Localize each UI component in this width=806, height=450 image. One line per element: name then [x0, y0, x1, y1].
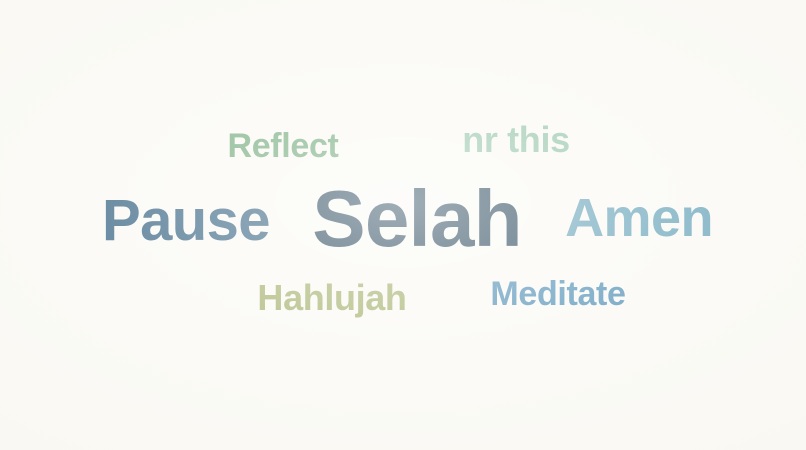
cloud-word: Pause: [102, 192, 270, 250]
cloud-word: Reflect: [228, 129, 339, 163]
cloud-word: Selah: [312, 179, 521, 259]
cloud-word: Meditate: [490, 277, 625, 311]
cloud-word: Hahlujah: [257, 280, 406, 316]
cloud-word: Amen: [565, 191, 713, 245]
wordcloud-canvas: Reflectnr thisPauseSelahAmenHahlujahMedi…: [0, 0, 806, 450]
cloud-word: nr this: [462, 122, 569, 158]
